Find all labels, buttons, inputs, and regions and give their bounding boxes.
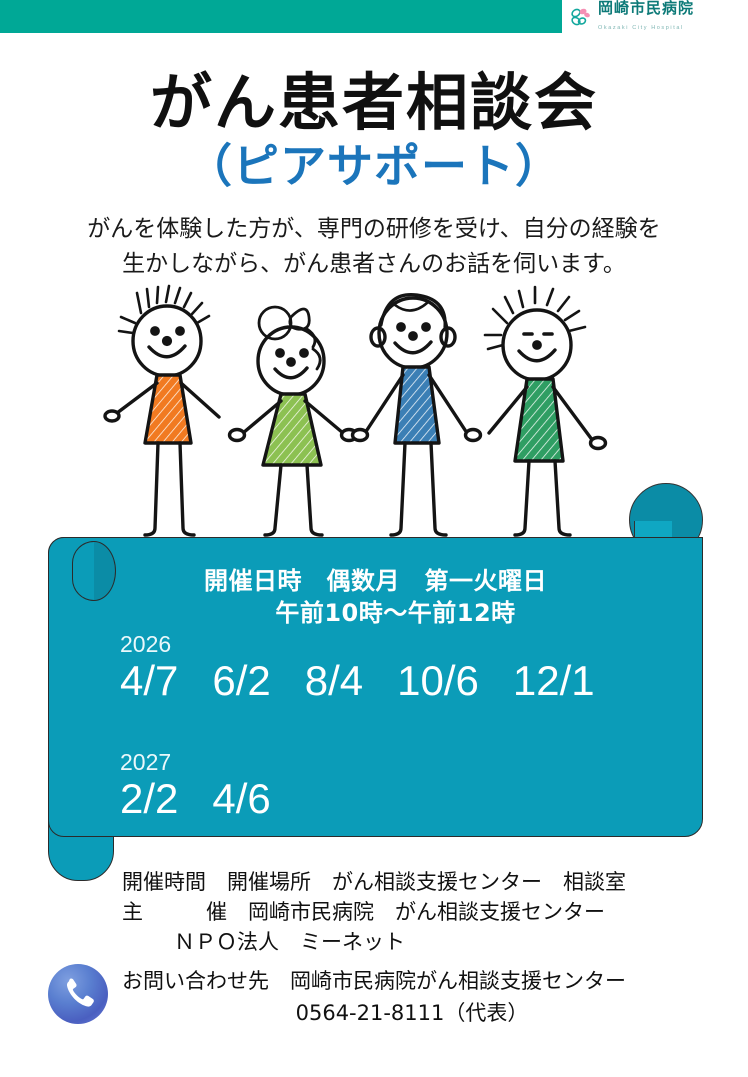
logo-name-en: Okazaki City Hospital [598, 25, 684, 31]
description-text: がんを体験した方が、専門の研修を受け、自分の経験を 生かしながら、がん患者さんの… [60, 212, 688, 281]
schedule-date: 4/7 [120, 659, 178, 703]
hospital-logo: 岡崎市民病院 Okazaki City Hospital [562, 0, 748, 33]
description-line-2: 生かしながら、がん患者さんのお話を伺います。 [60, 247, 688, 282]
event-info-line-1: 開催時間 開催場所 がん相談支援センター 相談室 [122, 868, 732, 898]
page-subtitle: （ピアサポート） [0, 130, 748, 196]
schedule-year-label: 2026 [120, 633, 680, 656]
schedule-date: 10/6 [397, 659, 479, 703]
logo-name-jp: 岡崎市民病院 [598, 0, 694, 17]
schedule-date-row: 2/2 4/6 [120, 777, 680, 821]
event-info-line-3: ＮＰＯ法人 ミーネット [122, 928, 732, 958]
description-line-1: がんを体験した方が、専門の研修を受け、自分の経験を [60, 212, 688, 247]
schedule-date: 2/2 [120, 777, 178, 821]
schedule-date-row: 4/7 6/2 8/4 10/6 12/1 [120, 659, 680, 703]
schedule-year-block: 2026 4/7 6/2 8/4 10/6 12/1 [120, 633, 680, 703]
schedule-date: 8/4 [305, 659, 363, 703]
schedule-date: 4/6 [212, 777, 270, 821]
contact-line-1: お問い合わせ先 岡崎市民病院がん相談支援センター [122, 966, 738, 998]
schedule-date: 6/2 [212, 659, 270, 703]
schedule-banner: 開催日時 偶数月 第一火曜日 午前10時〜午前12時 2026 4/7 6/2 … [48, 483, 703, 883]
schedule-date: 12/1 [513, 659, 595, 703]
phone-icon [48, 964, 108, 1024]
event-info: 開催時間 開催場所 がん相談支援センター 相談室 主 催 岡崎市民病院 がん相談… [122, 868, 732, 957]
event-heading-line-2: 午前10時〜午前12時 [48, 593, 703, 628]
schedule-year-block: 2027 2/2 4/6 [120, 751, 680, 821]
contact-phone-number: 0564-21-8111（代表） [122, 998, 738, 1030]
header-band: 岡崎市民病院 Okazaki City Hospital [0, 0, 748, 33]
flower-logo-icon [568, 4, 594, 30]
page-title: がん患者相談会 [0, 52, 748, 142]
event-info-line-2: 主 催 岡崎市民病院 がん相談支援センター [122, 898, 732, 928]
event-heading-line-1: 開催日時 偶数月 第一火曜日 [48, 561, 703, 596]
schedule-year-label: 2027 [120, 751, 680, 774]
